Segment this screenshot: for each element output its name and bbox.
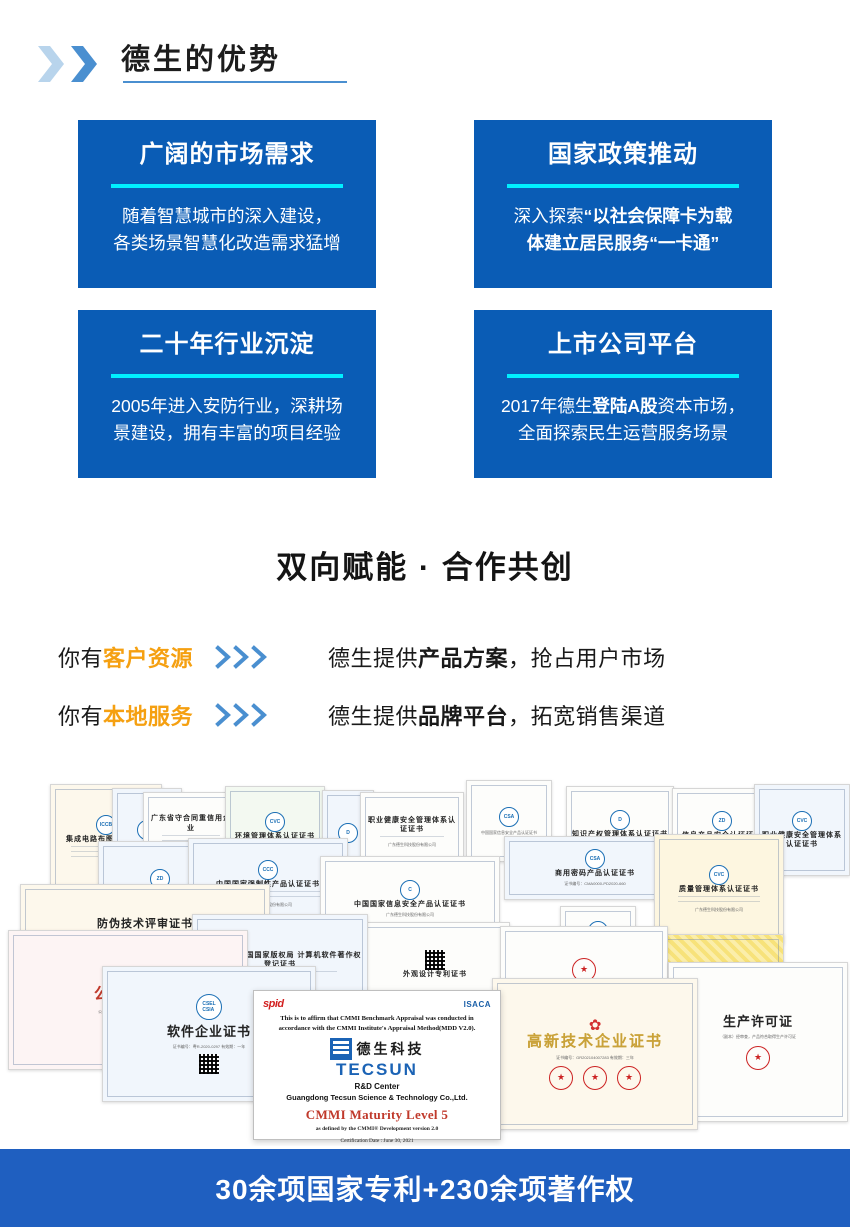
cmmi-maturity-level: CMMI Maturity Level 5 xyxy=(306,1107,448,1123)
triple-chevron-right-icon xyxy=(215,644,268,670)
card-body-bold: 登陆A股 xyxy=(592,396,657,416)
card-body-line: 2005年进入安防行业，深耕场 xyxy=(111,393,342,419)
bottom-highlight-bar: 30余项国家专利+230余项著作权 xyxy=(0,1149,850,1227)
cmmi-company-name: Guangdong Tecsun Science & Technology Co… xyxy=(286,1093,467,1102)
card-body: 2005年进入安防行业，深耕场 景建设，拥有丰富的项目经验 xyxy=(111,393,342,446)
cert-title: 质量管理体系认证证书 xyxy=(679,885,759,894)
card-body-line: 各类场景智慧化改造需求猛增 xyxy=(113,230,341,256)
feature-card-market-demand: 广阔的市场需求 随着智慧城市的深入建设， 各类场景智慧化改造需求猛增 xyxy=(78,120,376,288)
chevron-right-icon xyxy=(233,644,250,670)
cert-subtitle: 证书编号：粤R-2020-0297 有效期：一年 xyxy=(173,1044,245,1050)
tecsun-brand-cn: 德生科技 xyxy=(357,1039,425,1059)
chevron-right-icon xyxy=(233,702,250,728)
synergy-right-prefix: 德生提供 xyxy=(328,646,418,671)
card-body-plain: 资本市场， xyxy=(658,396,746,416)
card-divider xyxy=(111,374,343,378)
cmmi-defined-by: as defined by the CMMI® Development vers… xyxy=(316,1126,439,1132)
synergy-left: 你有本地服务 xyxy=(58,699,193,731)
card-body-bold: “以社会保障卡为载 xyxy=(584,206,733,226)
card-body-line: 深入探索“以社会保障卡为载 xyxy=(514,203,733,229)
official-seal-icon: ★ xyxy=(583,1066,607,1090)
cert-badge: CSELCSIA xyxy=(196,994,222,1020)
card-divider xyxy=(507,184,739,188)
cert-title: 商用密码产品认证证书 xyxy=(555,869,635,878)
card-divider xyxy=(111,184,343,188)
card-body: 随着智慧城市的深入建设， 各类场景智慧化改造需求猛增 xyxy=(113,203,341,256)
header-chevron-group xyxy=(36,44,99,84)
flame-icon: ✿ xyxy=(589,1018,602,1033)
synergy-right: 德生提供产品方案，抢占用户市场 xyxy=(328,641,666,673)
card-divider xyxy=(507,374,739,378)
synergy-right-bold: 产品方案 xyxy=(418,646,508,671)
certificate-thumb: ✿ 高新技术企业证书 证书编号：GR202104007283 有效期：三年 ★ … xyxy=(492,978,698,1130)
synergy-left-prefix: 你有 xyxy=(58,646,103,671)
cert-title: 高新技术企业证书 xyxy=(527,1033,663,1052)
chevron-right-icon xyxy=(215,644,232,670)
cert-badge: C xyxy=(400,880,420,900)
chevron-right-icon xyxy=(36,44,66,84)
feature-cards-grid: 广阔的市场需求 随着智慧城市的深入建设， 各类场景智慧化改造需求猛增 国家政策推… xyxy=(78,120,772,478)
card-body-line: 2017年德生登陆A股资本市场， xyxy=(501,393,745,419)
cert-title: 生产许可证 xyxy=(723,1014,793,1031)
certificate-collage: ICCB 集成电路布图设计证书 D DEFNO / AMAB 广东省守合同重信用… xyxy=(0,766,850,1146)
card-title: 上市公司平台 xyxy=(548,332,698,358)
cert-title: 职业健康安全管理体系认证证书 xyxy=(366,816,458,834)
cert-badge: CVC xyxy=(709,865,729,885)
card-body-plain: 深入探索 xyxy=(514,206,584,226)
card-body: 2017年德生登陆A股资本市场， 全面探索民生运营服务场景 xyxy=(501,393,745,446)
cert-title: 外观设计专利证书 xyxy=(403,970,467,979)
synergy-rows: 你有客户资源 德生提供产品方案，抢占用户市场 你有本地服务 德生提供品牌平台，拓… xyxy=(0,628,850,744)
cmmi-affirmation-line-1: This is to affirm that CMMI Benchmark Ap… xyxy=(263,1014,491,1024)
bottom-bar-text: 30余项国家专利+230余项著作权 xyxy=(215,1168,634,1208)
feature-card-listed-company: 上市公司平台 2017年德生登陆A股资本市场， 全面探索民生运营服务场景 xyxy=(474,310,772,478)
qr-code-icon xyxy=(199,1054,219,1074)
card-body-line: 体建立居民服务“一卡通” xyxy=(514,230,733,256)
synergy-right-suffix: ，抢占用户市场 xyxy=(508,646,666,671)
spid-logo: spid xyxy=(263,998,284,1010)
synergy-left-highlight: 本地服务 xyxy=(103,704,193,729)
cert-badge: CVC xyxy=(265,812,285,832)
cert-title: 防伪技术评审证书 xyxy=(97,917,193,931)
card-title: 国家政策推动 xyxy=(548,142,698,168)
page-title: 德生的优势 xyxy=(121,46,281,75)
isaca-logo: ISACA xyxy=(464,1000,491,1009)
synergy-right-suffix: ，拓宽销售渠道 xyxy=(508,704,666,729)
cert-subtitle: 证书编号：CMA0000-PD2020-660 xyxy=(564,881,626,887)
card-body-line: 景建设，拥有丰富的项目经验 xyxy=(111,420,342,446)
chevron-right-icon xyxy=(69,44,99,84)
cert-subtitle: 广东德生科技股份有限公司 xyxy=(386,912,434,918)
cert-badge: CSA xyxy=(585,849,605,869)
cert-badge: CCC xyxy=(258,860,278,880)
cert-subtitle: （副本）经审查，产品符合取得生产许可证 xyxy=(720,1034,796,1040)
card-body-plain: 2017年德生 xyxy=(501,396,592,416)
synergy-right-bold: 品牌平台 xyxy=(418,704,508,729)
cert-title: 软件企业证书 xyxy=(167,1024,251,1041)
synergy-row: 你有本地服务 德生提供品牌平台，拓宽销售渠道 xyxy=(0,686,850,744)
cmmi-affirmation-line-2: accordance with the CMMI Institute's App… xyxy=(263,1024,491,1034)
synergy-section-title: 双向赋能 · 合作共创 xyxy=(0,542,850,587)
section-header: 德生的优势 xyxy=(0,36,850,92)
cert-title: 广东省守合同重信用企业 xyxy=(149,814,233,832)
tecsun-mark-icon xyxy=(330,1038,352,1060)
official-seal-icon: ★ xyxy=(617,1066,641,1090)
cert-subtitle: 广东德生科技股份有限公司 xyxy=(388,842,436,848)
triple-chevron-right-icon xyxy=(215,702,268,728)
synergy-right-prefix: 德生提供 xyxy=(328,704,418,729)
cmmi-certification-date: Certification Date : June 30, 2021 xyxy=(340,1137,413,1146)
cert-badge: CSA xyxy=(499,807,519,827)
cert-subtitle: 证书编号：GR202104007283 有效期：三年 xyxy=(556,1055,634,1061)
cert-title: 中国国家信息安全产品认证证书 xyxy=(354,900,466,909)
card-body-bold: 体建立居民服务“一卡通” xyxy=(527,233,720,253)
feature-card-industry-experience: 二十年行业沉淀 2005年进入安防行业，深耕场 景建设，拥有丰富的项目经验 xyxy=(78,310,376,478)
qr-code-icon xyxy=(425,950,445,970)
card-body-line: 全面探索民生运营服务场景 xyxy=(501,420,745,446)
cmmi-rd-center: R&D Center xyxy=(355,1082,400,1091)
cert-badge: D xyxy=(610,810,630,830)
page-title-underline xyxy=(123,81,347,83)
official-seal-icon: ★ xyxy=(549,1066,573,1090)
cert-subtitle: 中国国家信息安全产品认证证书 xyxy=(481,830,537,836)
certificate-thumb: CVC 质量管理体系认证证书 广东德生科技股份有限公司 xyxy=(654,834,784,944)
synergy-right: 德生提供品牌平台，拓宽销售渠道 xyxy=(328,699,666,731)
synergy-left: 你有客户资源 xyxy=(58,641,193,673)
cmmi-header-row: spid ISACA xyxy=(263,998,491,1010)
tecsun-brand-en: TECSUN xyxy=(336,1061,418,1078)
official-seal-icon: ★ xyxy=(746,1046,770,1070)
synergy-left-highlight: 客户资源 xyxy=(103,646,193,671)
cert-badge: ZD xyxy=(712,811,732,831)
feature-card-national-policy: 国家政策推动 深入探索“以社会保障卡为载 体建立居民服务“一卡通” xyxy=(474,120,772,288)
card-body: 深入探索“以社会保障卡为载 体建立居民服务“一卡通” xyxy=(514,203,733,256)
tecsun-logo: 德生科技 xyxy=(330,1038,425,1060)
synergy-left-prefix: 你有 xyxy=(58,704,103,729)
card-title: 广阔的市场需求 xyxy=(140,142,315,168)
synergy-row: 你有客户资源 德生提供产品方案，抢占用户市场 xyxy=(0,628,850,686)
card-title: 二十年行业沉淀 xyxy=(140,332,315,358)
cert-subtitle: 广东德生科技股份有限公司 xyxy=(695,907,743,913)
page-title-wrap: 德生的优势 xyxy=(121,46,281,83)
chevron-right-icon xyxy=(251,702,268,728)
card-body-line: 随着智慧城市的深入建设， xyxy=(113,203,341,229)
cmmi-certificate: spid ISACA This is to affirm that CMMI B… xyxy=(253,990,501,1140)
chevron-right-icon xyxy=(251,644,268,670)
chevron-right-icon xyxy=(215,702,232,728)
cert-badge: CVC xyxy=(792,811,812,831)
